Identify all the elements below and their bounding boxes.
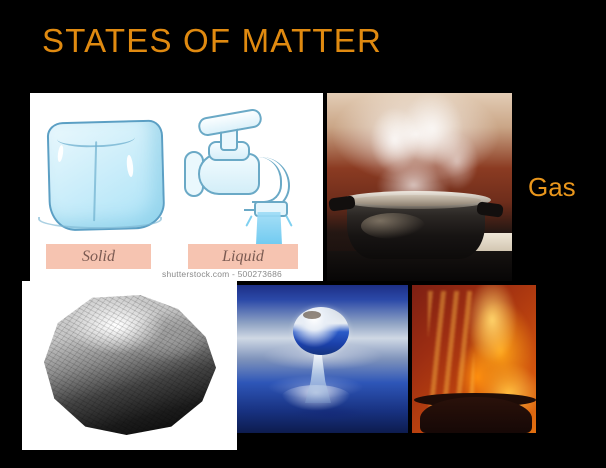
pot-interior [351, 195, 481, 206]
caption-solid: Solid [46, 244, 151, 269]
stock-watermark: shutterstock.com - 500273686 [162, 269, 322, 279]
flame-plume-image [412, 285, 536, 433]
water-stream-icon [256, 212, 282, 245]
water-droplet-icon [293, 307, 349, 355]
caption-liquid-label: Liquid [222, 248, 264, 266]
rock-image [22, 281, 237, 450]
water-splash-icon [245, 215, 252, 227]
caption-liquid: Liquid [188, 244, 298, 269]
rock-texture [44, 295, 216, 435]
solid-liquid-clipart-image: Solid Liquid shutterstock.com - 50027368… [30, 93, 323, 281]
water-splash-icon [285, 215, 292, 227]
water-droplet-image [237, 285, 408, 433]
flame-edge-detail [428, 291, 474, 409]
page-title: STATES OF MATTER [42, 22, 382, 60]
faucet-icon [180, 107, 298, 242]
smoke-stack [420, 397, 532, 433]
slide-canvas: STATES OF MATTER Solid Liquid shuttersto… [0, 0, 606, 468]
ice-cube-icon [47, 120, 166, 232]
gas-label: Gas [528, 172, 576, 203]
caption-solid-label: Solid [82, 248, 115, 266]
pot-highlight [361, 213, 425, 239]
steaming-pot-image [327, 93, 512, 281]
